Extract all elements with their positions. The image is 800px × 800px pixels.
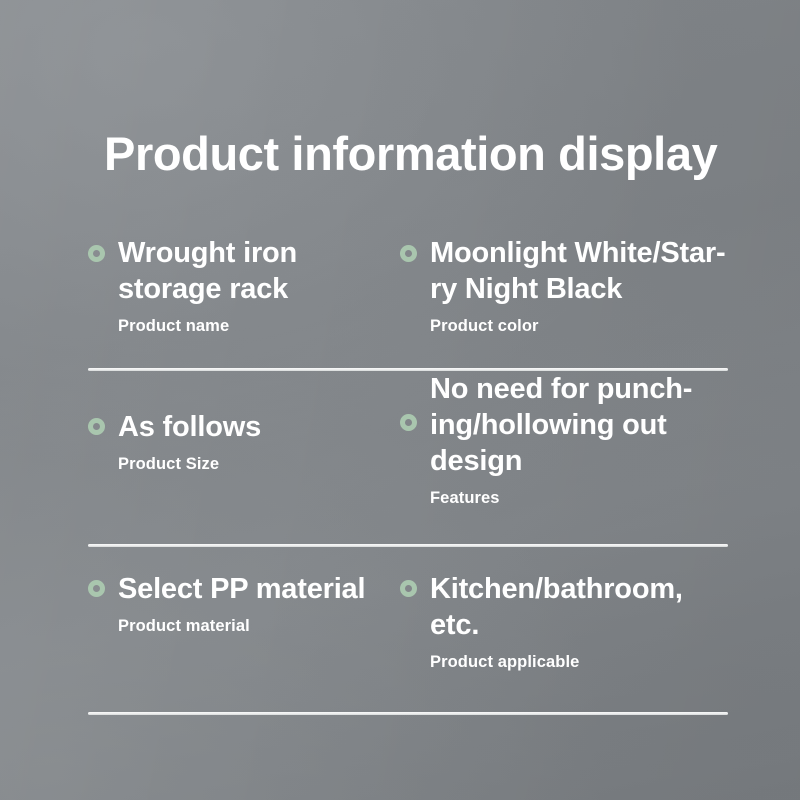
spec-value-line: Moonlight White/Star- bbox=[430, 236, 724, 272]
spec-value: No need for punch- ing/hollowing out des… bbox=[430, 372, 724, 480]
spec-value-line: ry Night Black bbox=[430, 272, 724, 308]
spec-grid: Wrought iron storage rack Product name M… bbox=[88, 236, 728, 710]
spec-value-line: Select PP material bbox=[118, 572, 396, 608]
divider-row-1 bbox=[88, 368, 728, 371]
spec-row: Wrought iron storage rack Product name M… bbox=[88, 236, 728, 372]
spec-label: Product applicable bbox=[430, 653, 724, 673]
spec-text: As follows Product Size bbox=[118, 372, 396, 475]
spec-value-line: Wrought iron bbox=[118, 236, 396, 272]
spec-value: Select PP material bbox=[118, 572, 396, 608]
spec-value-line: As follows bbox=[118, 410, 396, 446]
ring-bullet-icon bbox=[400, 414, 417, 431]
spec-label: Product Size bbox=[118, 455, 396, 475]
ring-bullet-icon bbox=[88, 580, 105, 597]
ring-bullet-icon bbox=[400, 580, 417, 597]
spec-value-line: design bbox=[430, 444, 724, 480]
spec-item-product-name: Wrought iron storage rack Product name bbox=[88, 236, 400, 337]
divider-row-3 bbox=[88, 712, 728, 715]
ring-bullet-icon bbox=[88, 245, 105, 262]
spec-label: Product material bbox=[118, 617, 396, 637]
spec-value: Moonlight White/Star- ry Night Black bbox=[430, 236, 724, 308]
spec-value-line: ing/hollowing out bbox=[430, 408, 724, 444]
divider-row-2 bbox=[88, 544, 728, 547]
spec-text: No need for punch- ing/hollowing out des… bbox=[430, 372, 724, 509]
page-title: Product information display bbox=[104, 128, 717, 180]
spec-label: Features bbox=[430, 489, 724, 509]
ring-bullet-icon bbox=[400, 245, 417, 262]
spec-row: As follows Product Size No need for punc… bbox=[88, 372, 728, 542]
spec-label: Product color bbox=[430, 317, 724, 337]
spec-value-line: No need for punch- bbox=[430, 372, 724, 408]
spec-text: Moonlight White/Star- ry Night Black Pro… bbox=[430, 236, 724, 337]
spec-value: As follows bbox=[118, 410, 396, 446]
spec-item-features: No need for punch- ing/hollowing out des… bbox=[400, 372, 728, 509]
spec-value-line: etc. bbox=[430, 608, 724, 644]
spec-item-product-color: Moonlight White/Star- ry Night Black Pro… bbox=[400, 236, 728, 337]
spec-text: Kitchen/bathroom, etc. Product applicabl… bbox=[430, 542, 724, 673]
spec-value: Kitchen/bathroom, etc. bbox=[430, 572, 724, 644]
spec-text: Wrought iron storage rack Product name bbox=[118, 236, 396, 337]
spec-value: Wrought iron storage rack bbox=[118, 236, 396, 308]
spec-value-line: Kitchen/bathroom, bbox=[430, 572, 724, 608]
spec-row: Select PP material Product material Kitc… bbox=[88, 542, 728, 710]
spec-value-line: storage rack bbox=[118, 272, 396, 308]
spec-text: Select PP material Product material bbox=[118, 542, 396, 637]
ring-bullet-icon bbox=[88, 418, 105, 435]
spec-label: Product name bbox=[118, 317, 396, 337]
spec-item-product-applicable: Kitchen/bathroom, etc. Product applicabl… bbox=[400, 542, 728, 673]
spec-item-product-material: Select PP material Product material bbox=[88, 542, 400, 637]
spec-item-product-size: As follows Product Size bbox=[88, 372, 400, 475]
product-information-panel: Product information display Wrought iron… bbox=[0, 0, 800, 800]
